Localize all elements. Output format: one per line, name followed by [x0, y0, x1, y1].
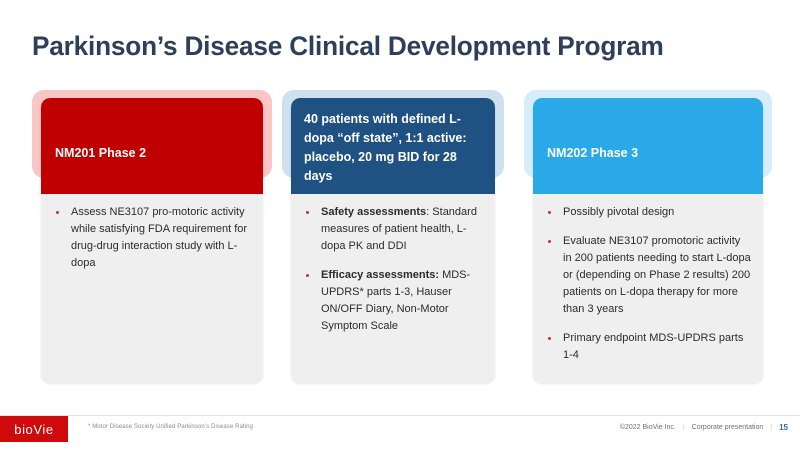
list-item: Safety assessments: Standard measures of…	[301, 204, 483, 255]
card-body: Safety assessments: Standard measures of…	[291, 194, 495, 335]
list-item: Efficacy assessments: MDS-UPDRS* parts 1…	[301, 267, 483, 335]
logo-text: bioVie	[14, 422, 54, 437]
biovie-logo: bioVie	[0, 416, 68, 442]
footnote: * Motor Disease Society Unified Parkinso…	[88, 424, 253, 430]
list-item: Assess NE3107 pro-motoric activity while…	[51, 204, 251, 272]
card-panel: 40 patients with defined L-dopa “off sta…	[291, 98, 495, 383]
copyright-text: ©2022 BioVie Inc.	[620, 424, 676, 431]
list-item: Primary endpoint MDS-UPDRS parts 1-4	[543, 330, 751, 364]
list-item: Evaluate NE3107 promotoric activity in 2…	[543, 233, 751, 318]
footer-separator: |	[770, 424, 772, 431]
page-number: 15	[779, 423, 788, 432]
card-body: Possibly pivotal design Evaluate NE3107 …	[533, 194, 763, 364]
page-title: Parkinson’s Disease Clinical Development…	[32, 31, 664, 62]
bullet-lead: Safety assessments	[321, 206, 426, 218]
card-header-title: 40 patients with defined L-dopa “off sta…	[291, 98, 495, 194]
card-header-title: NM201 Phase 2	[41, 98, 263, 194]
deck-name: Corporate presentation	[692, 424, 764, 431]
bullet-text: Assess NE3107 pro-motoric activity while…	[71, 206, 247, 269]
bullet-lead: Efficacy assessments:	[321, 269, 439, 281]
card-header-title: NM202 Phase 3	[533, 98, 763, 194]
footer-divider	[0, 415, 800, 416]
list-item: Possibly pivotal design	[543, 204, 751, 221]
bullet-text: Primary endpoint MDS-UPDRS parts 1-4	[563, 332, 743, 361]
card-body: Assess NE3107 pro-motoric activity while…	[41, 194, 263, 272]
card-panel: NM201 Phase 2 Assess NE3107 pro-motoric …	[41, 98, 263, 383]
footer-meta: ©2022 BioVie Inc. | Corporate presentati…	[620, 423, 788, 432]
slide: Parkinson’s Disease Clinical Development…	[0, 0, 800, 449]
card-panel: NM202 Phase 3 Possibly pivotal design Ev…	[533, 98, 763, 383]
bullet-list: Possibly pivotal design Evaluate NE3107 …	[543, 204, 751, 364]
bullet-list: Safety assessments: Standard measures of…	[301, 204, 483, 335]
bullet-list: Assess NE3107 pro-motoric activity while…	[51, 204, 251, 272]
bullet-text: Possibly pivotal design	[563, 206, 674, 218]
cards-row: NM201 Phase 2 Assess NE3107 pro-motoric …	[0, 90, 800, 390]
bullet-text: Evaluate NE3107 promotoric activity in 2…	[563, 235, 751, 315]
footer-separator: |	[683, 424, 685, 431]
